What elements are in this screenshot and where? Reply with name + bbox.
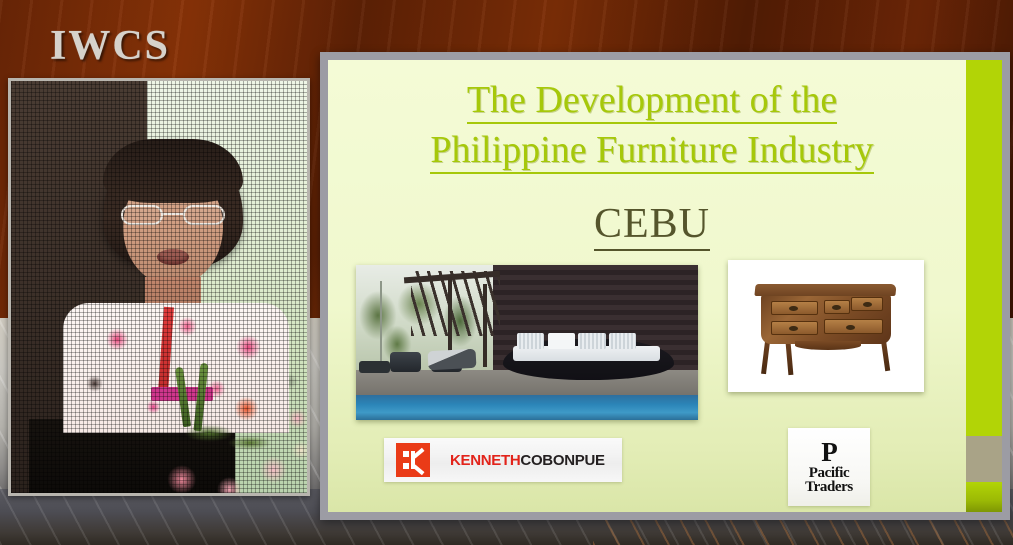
photo-side-table: [359, 361, 390, 373]
commode-handle: [846, 325, 855, 330]
antique-commode-photo: [728, 260, 924, 392]
slide-subtitle: CEBU: [352, 200, 952, 248]
photo-pool: [356, 395, 698, 420]
commode-apron: [795, 341, 862, 350]
rail-segment-green-top: [966, 60, 1002, 436]
photo-chair: [390, 352, 421, 372]
photo-pole: [380, 281, 382, 362]
photo-pillow: [609, 333, 636, 349]
photo-pillow: [548, 333, 575, 349]
commode-handle: [832, 305, 841, 310]
slide-subtitle-text: CEBU: [594, 201, 710, 251]
video-mesh-overlay: [11, 81, 307, 493]
slide-title-line-1: The Development of the: [467, 79, 837, 124]
screen: IWCS The Development of: [0, 0, 1013, 545]
kenneth-word: KENNETH: [450, 452, 520, 469]
photo-pillow: [578, 333, 605, 349]
slide-accent-rail: [966, 60, 1002, 512]
kenneth-cobonpue-logo: KENNETHCOBONPUE: [384, 438, 622, 482]
rail-segment-tan: [966, 436, 1002, 482]
slide-title: The Development of the Philippine Furnit…: [352, 76, 952, 176]
pacific-traders-line-1: Pacific: [809, 466, 850, 480]
slide-title-line-2: Philippine Furniture Industry: [430, 129, 873, 174]
rail-segment-green-bottom: [966, 482, 1002, 512]
presentation-slide[interactable]: The Development of the Philippine Furnit…: [320, 52, 1010, 520]
photo-pillow: [517, 333, 544, 349]
pacific-traders-monogram-icon: P: [821, 440, 837, 465]
pacific-traders-line-2: Traders: [805, 480, 853, 494]
commode-top: [755, 284, 897, 296]
kenneth-cobonpue-mark-icon: [396, 443, 430, 477]
commode-leg: [785, 343, 793, 375]
overlay-label-iwcs: IWCS: [50, 22, 170, 70]
kenneth-cobonpue-wordmark: KENNETHCOBONPUE: [450, 452, 605, 469]
photo-lounger: [427, 349, 476, 370]
photo-post: [483, 284, 487, 368]
speaker-video-panel[interactable]: [8, 78, 310, 496]
commode-leg: [761, 342, 770, 374]
pacific-traders-logo: P Pacific Traders: [788, 428, 870, 506]
commode-handle: [789, 326, 798, 331]
outdoor-furniture-photo: [356, 265, 698, 420]
cobonpue-word: COBONPUE: [520, 452, 604, 469]
